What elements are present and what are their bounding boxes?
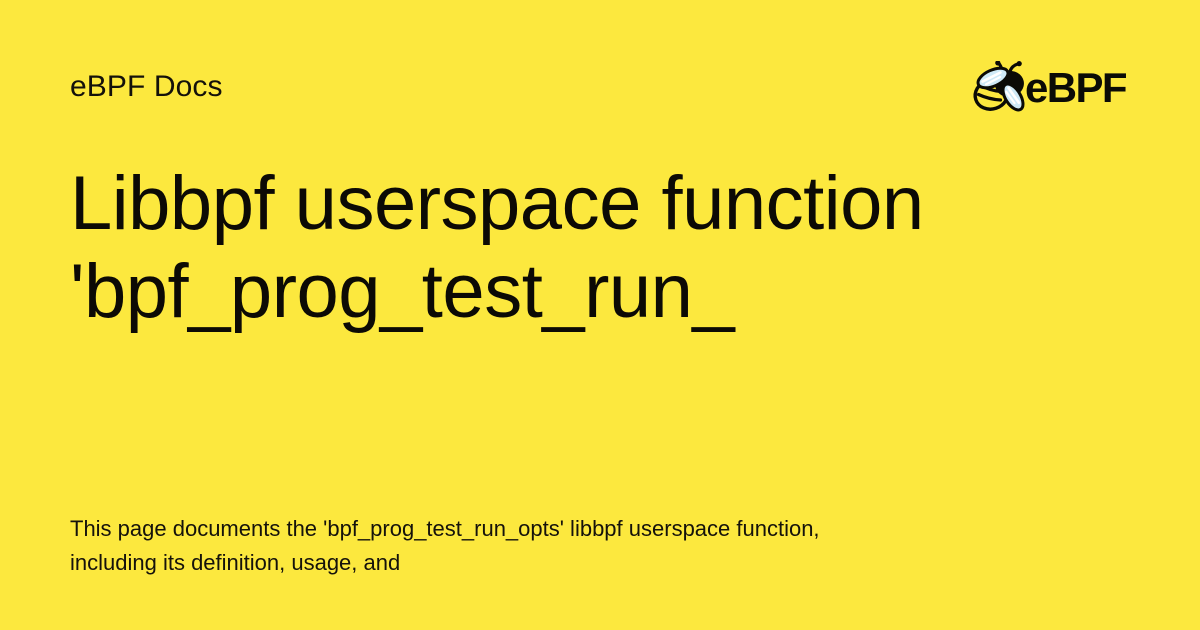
page-title: Libbpf userspace function 'bpf_prog_test… xyxy=(70,160,1070,432)
og-card: eBPF Docs xyxy=(0,0,1200,630)
ebpf-logo: eBPF xyxy=(971,59,1130,115)
page-description: This page documents the 'bpf_prog_test_r… xyxy=(70,512,890,580)
site-name: eBPF Docs xyxy=(70,70,223,104)
ebpf-wordmark: eBPF xyxy=(1025,67,1126,109)
card-header: eBPF Docs xyxy=(70,56,1130,118)
ebpf-bee-icon xyxy=(971,61,1027,113)
